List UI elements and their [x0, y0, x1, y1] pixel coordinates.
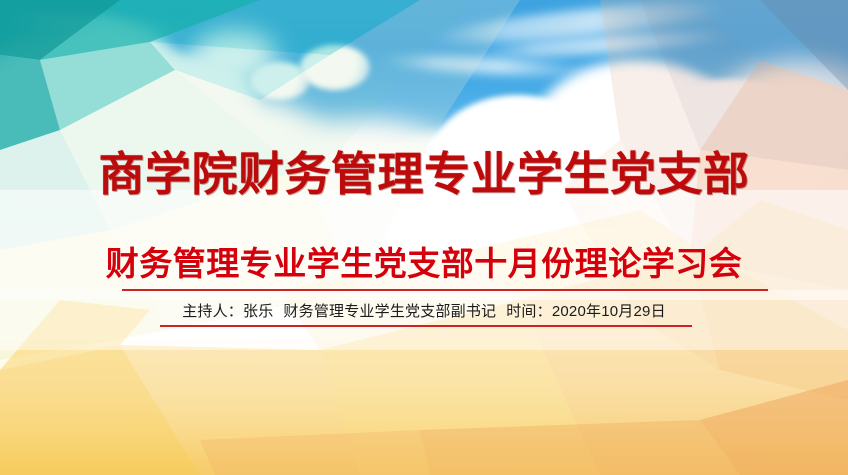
divider-top	[122, 289, 768, 291]
divider-bottom	[160, 325, 692, 327]
page-title: 商学院财务管理专业学生党支部	[0, 145, 848, 203]
subtitle: 财务管理专业学生党支部十月份理论学习会	[106, 244, 743, 284]
title-slide: 商学院财务管理专业学生党支部 财务管理专业学生党支部十月份理论学习会 主持人：张…	[0, 0, 848, 475]
host-label: 主持人：	[182, 303, 243, 320]
presenter-info: 主持人：张乐财务管理专业学生党支部副书记时间：2020年10月29日	[0, 301, 848, 322]
time-value: 2020年10月29日	[552, 303, 666, 320]
host-name: 张乐	[243, 303, 273, 320]
subtitle-container: 财务管理专业学生党支部十月份理论学习会	[0, 244, 848, 284]
time-label: 时间：	[506, 303, 552, 320]
host-role: 财务管理专业学生党支部副书记	[283, 303, 496, 320]
slide-content: 商学院财务管理专业学生党支部 财务管理专业学生党支部十月份理论学习会 主持人：张…	[0, 0, 848, 475]
